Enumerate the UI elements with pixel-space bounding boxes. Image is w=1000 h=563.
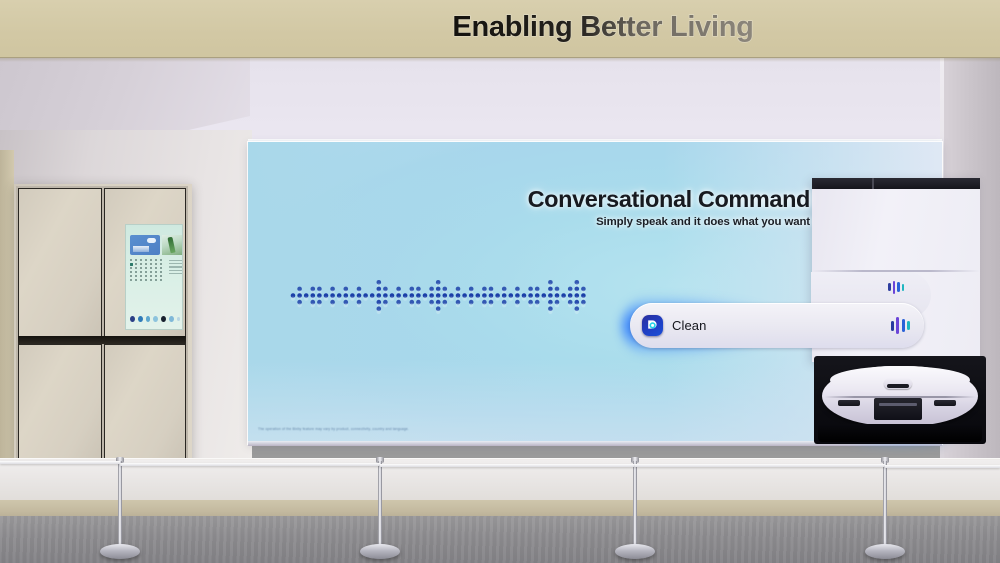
refrigerator-door-bottom-left[interactable] (18, 344, 102, 462)
app-icon-5[interactable] (161, 316, 166, 322)
robot-vacuum-handle (884, 378, 912, 389)
family-hub-touchscreen[interactable] (125, 224, 183, 330)
display-text-block: Conversational Command Simply speak and … (470, 186, 810, 228)
stanchion-base (615, 544, 655, 559)
exhibit-scene: Enabling Better Living Conversational Co… (0, 0, 1000, 563)
refrigerator-door-top-left[interactable] (18, 188, 102, 338)
stanchion-pole (633, 461, 637, 547)
barrier-belt (885, 465, 1000, 468)
robot-vacuum-vent-left (838, 400, 860, 406)
stanchion-pole (118, 461, 122, 547)
weather-widget[interactable] (130, 235, 160, 255)
voice-wave-icon (888, 280, 904, 294)
voice-wave-icon (891, 317, 911, 335)
calendar-widget[interactable] (130, 259, 166, 283)
family-hub-refrigerator (14, 184, 192, 467)
carpet-floor (0, 516, 1000, 563)
hub-app-dock[interactable] (130, 315, 180, 323)
stanchion-base (360, 544, 400, 559)
app-icon-3[interactable] (146, 316, 151, 322)
barrier-belt (0, 461, 120, 464)
app-icon-2[interactable] (138, 316, 143, 322)
cloud-icon (147, 238, 156, 243)
display-fineprint: The operation of the Bixby feature may v… (258, 427, 474, 435)
stanchion-pole (378, 461, 382, 547)
robot-vacuum-base-shadow (818, 424, 982, 442)
barrier-belt (380, 464, 635, 467)
bottle-image (167, 237, 175, 254)
stanchion-pole (883, 461, 887, 547)
barrier-belt (120, 463, 380, 466)
bixby-icon (642, 315, 663, 336)
app-icon-4[interactable] (153, 316, 158, 322)
stanchion-post (859, 458, 911, 563)
banner-title-svg: Enabling Better Living (0, 0, 1000, 62)
notes-widget[interactable] (169, 260, 182, 274)
barrier-belt (635, 464, 885, 467)
voice-waveform-dot-matrix (290, 228, 590, 363)
stanchion-post (354, 458, 406, 563)
command-pill[interactable]: Clean (630, 303, 924, 348)
app-icon-6[interactable] (169, 316, 174, 322)
photo-widget[interactable] (162, 235, 182, 255)
left-wall-trim (0, 150, 14, 470)
appliance-top-panel (812, 178, 980, 189)
stanchion-post (94, 458, 146, 563)
command-pill-label: Clean (672, 318, 706, 333)
stanchion-post (609, 458, 661, 563)
display-headline: Conversational Command (470, 186, 810, 213)
display-subhead: Simply speak and it does what you want (470, 216, 810, 228)
refrigerator-door-bottom-right[interactable] (104, 344, 186, 462)
weather-label (133, 246, 149, 252)
banner-title: Enabling Better Living (452, 11, 753, 43)
stanchion-base (100, 544, 140, 559)
banner: Enabling Better Living (0, 0, 1000, 62)
app-icon-1[interactable] (130, 316, 135, 322)
refrigerator-door-gap (18, 336, 186, 344)
app-icon-7[interactable] (177, 317, 180, 321)
stanchion-base (865, 544, 905, 559)
robot-vacuum-vent-right (934, 400, 956, 406)
robot-vacuum-sensor (874, 398, 922, 420)
